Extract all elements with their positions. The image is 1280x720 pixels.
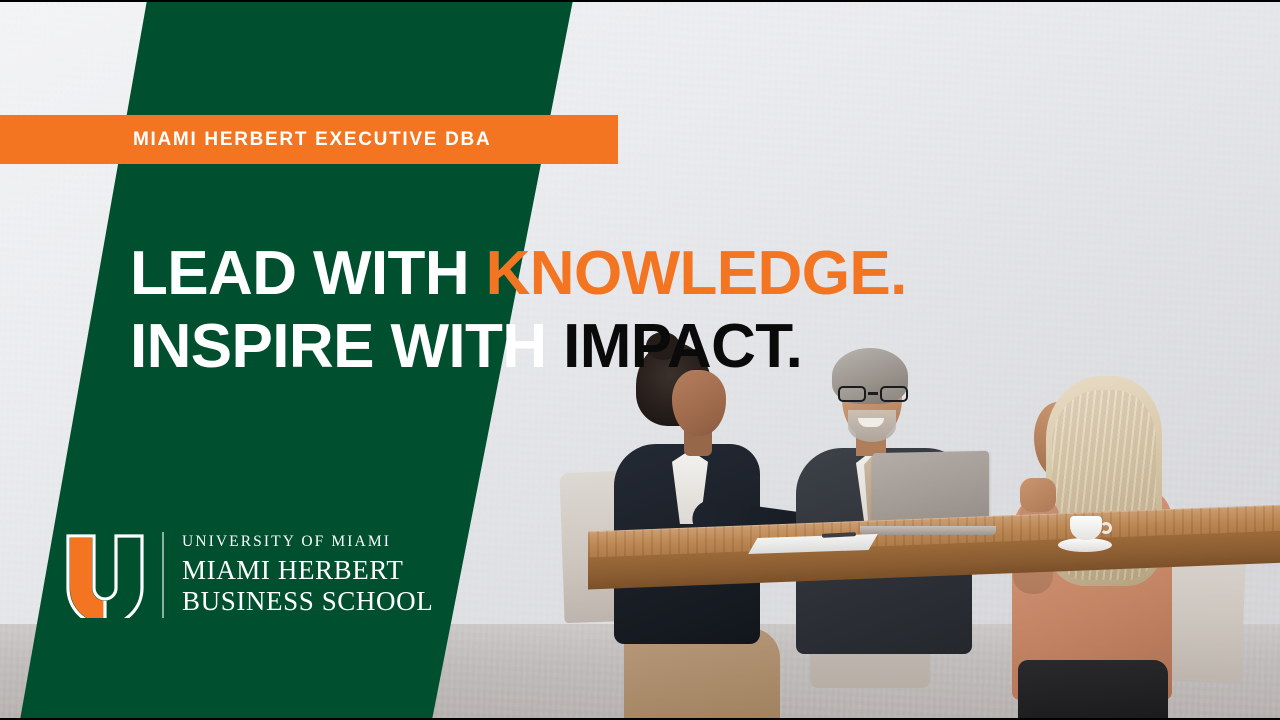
letterbox-top [0,0,1280,2]
eyeglasses-left-lens [838,386,866,402]
eyeglasses-bridge [868,392,878,395]
person-right-hand [1020,478,1056,512]
coffee-cup-handle [1100,522,1112,534]
headline-knowledge: KNOWLEDGE. [486,239,907,308]
coffee-cup [1070,516,1102,540]
headline-line-1: LEAD WITH KNOWLEDGE. [130,242,1130,305]
logo-divider [162,532,164,618]
program-name-label: MIAMI HERBERT EXECUTIVE DBA [133,129,491,151]
meeting-scene-photo [560,330,1280,720]
headline-block: LEAD WITH KNOWLEDGE. INSPIRE WITH IMPACT… [130,242,1130,378]
logo-wordmark: UNIVERSITY OF MIAMI MIAMI HERBERT BUSINE… [182,533,433,618]
promo-slide: MIAMI HERBERT EXECUTIVE DBA LEAD WITH KN… [0,0,1280,720]
split-u-icon [64,532,146,618]
laptop-base [860,526,996,535]
headline-inspire-with: INSPIRE WITH [130,312,563,381]
eyeglasses-icon [838,386,908,402]
logo-school-line-2: BUSINESS SCHOOL [182,586,433,617]
coffee-saucer [1058,538,1112,552]
headline-line-2: INSPIRE WITH IMPACT. [130,315,1130,378]
headline-lead-with: LEAD WITH [130,239,486,308]
person-right-skirt [1018,660,1168,720]
eyebrow-banner: MIAMI HERBERT EXECUTIVE DBA [0,115,618,164]
eyeglasses-right-lens [880,386,908,402]
logo-university-line: UNIVERSITY OF MIAMI [182,533,433,550]
logo-school-line-1: MIAMI HERBERT [182,555,433,586]
university-logo-lockup: UNIVERSITY OF MIAMI MIAMI HERBERT BUSINE… [64,532,433,618]
headline-impact: IMPACT. [563,312,802,381]
